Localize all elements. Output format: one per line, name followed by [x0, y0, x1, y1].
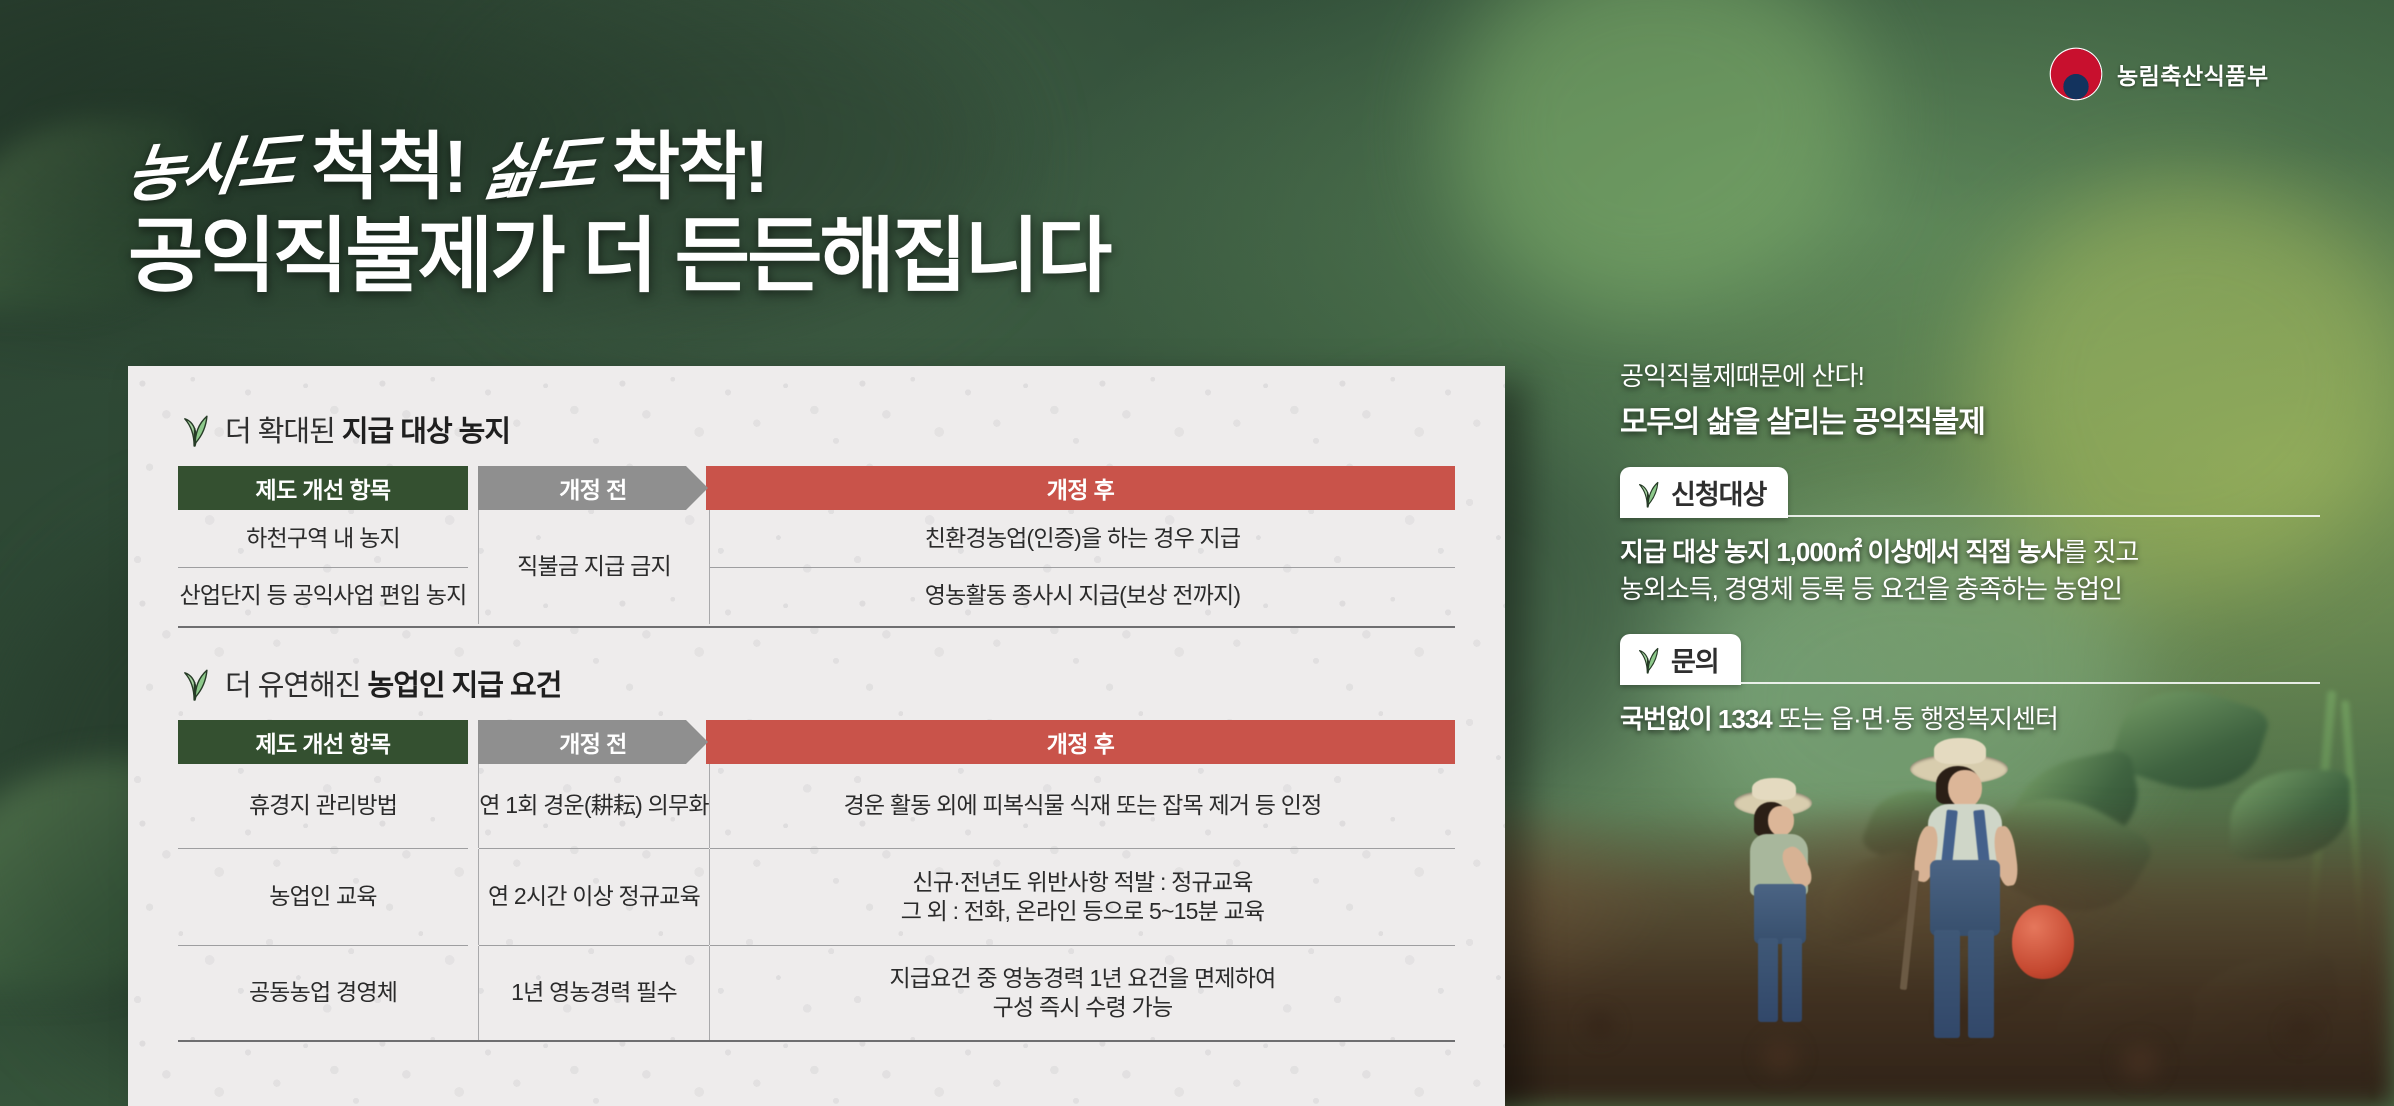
section-2-title: 더 유연해진 농업인 지급 요건: [225, 662, 561, 704]
farmer-figurine-left: [1720, 780, 1870, 1030]
table-2-row-1-before: 연 1회 경운(耕耘) 의무화: [479, 764, 709, 848]
table-2-row-2-after-line-2: 그 외 : 전화, 온라인 등으로 5~15분 교육: [901, 897, 1265, 926]
table-1-header-after: 개정 후: [706, 466, 1455, 510]
apply-target-block: 신청대상 지급 대상 농지 1,000㎡ 이상에서 직접 농사를 짓고 농외소득…: [1620, 467, 2320, 608]
sprout-icon: [178, 665, 212, 701]
table-2-row-1-item: 휴경지 관리방법: [178, 764, 468, 848]
right-info-column: 공익직불제때문에 산다! 모두의 삶을 살리는 공익직불제 신청대상 지급 대상…: [1620, 356, 2320, 738]
badge-rule: [1788, 515, 2320, 517]
headline-bold-1: 척척!: [311, 130, 466, 204]
apply-target-line-1: 지급 대상 농지 1,000㎡ 이상에서 직접 농사를 짓고: [1620, 534, 2320, 571]
table-2-header-after: 개정 후: [706, 720, 1455, 764]
headline-bold-2: 착착!: [612, 130, 767, 204]
inquiry-block: 문의 국번없이 1334 또는 읍·면·동 행정복지센터: [1620, 634, 2320, 738]
table-2: 제도 개선 항목 개정 전 개정 후 휴경지 관리방법 연 1회 경운(耕耘) …: [178, 720, 1455, 1042]
headline-script-2: 삶도: [478, 133, 599, 208]
headline: 농사도 척척! 삶도 착착! 공익직불제가 더 든든해집니다: [128, 108, 1109, 301]
section-2-heading: 더 유연해진 농업인 지급 요건: [178, 662, 1455, 704]
apply-target-line-2: 농외소득, 경영체 등록 등 요건을 충족하는 농업인: [1620, 571, 2320, 608]
headline-line-2: 공익직불제가 더 든든해집니다: [128, 214, 1109, 301]
section-1-title: 더 확대된 지급 대상 농지: [225, 408, 510, 450]
table-1-before-merged: 직불금 지급 금지: [479, 510, 709, 624]
table-2-row-3-item: 공동농업 경영체: [178, 946, 468, 1040]
table-1-row-1-item: 하천구역 내 농지: [178, 510, 468, 567]
table-2-row-2-after: 신규·전년도 위반사항 적발 : 정규교육 그 외 : 전화, 온라인 등으로 …: [710, 849, 1455, 945]
table-1-row-1-after: 친환경농업(인증)을 하는 경우 지급: [710, 510, 1455, 567]
table-2-row-2-after-line-1: 신규·전년도 위반사항 적발 : 정규교육: [912, 868, 1252, 897]
badge-rule: [1741, 682, 2320, 684]
table-2-row-2: 농업인 교육 연 2시간 이상 정규교육 신규·전년도 위반사항 적발 : 정규…: [178, 849, 1455, 945]
table-2-row-3: 공동농업 경영체 1년 영농경력 필수 지급요건 중 영농경력 1년 요건을 면…: [178, 946, 1455, 1040]
table-2-row-3-after-line-1: 지급요건 중 영농경력 1년 요건을 면제하여: [889, 964, 1275, 993]
inquiry-badge: 문의: [1620, 634, 1741, 685]
right-tagline-1: 공익직불제때문에 산다!: [1620, 356, 2320, 393]
section-1-heading: 더 확대된 지급 대상 농지: [178, 408, 1455, 450]
inquiry-label: 문의: [1671, 640, 1719, 679]
apply-target-badge: 신청대상: [1620, 467, 1788, 518]
table-1-header-item: 제도 개선 항목: [178, 466, 468, 510]
table-1-row-2-after: 영농활동 종사시 지급(보상 전까지): [710, 568, 1455, 625]
ministry-name: 농림축산식품부: [2117, 57, 2269, 91]
sprout-icon: [1634, 644, 1662, 674]
sprout-icon: [1634, 478, 1662, 508]
table-2-row-1: 휴경지 관리방법 연 1회 경운(耕耘) 의무화 경운 활동 외에 피복식물 식…: [178, 764, 1455, 848]
right-tagline-2: 모두의 삶을 살리는 공익직불제: [1620, 397, 2320, 441]
table-2-row-2-item: 농업인 교육: [178, 849, 468, 945]
table-2-row-3-after-line-2: 구성 즉시 수령 가능: [993, 993, 1173, 1022]
infographic-poster: 농림축산식품부 농사도 척척! 삶도 착착! 공익직불제가 더 든든해집니다 더…: [0, 0, 2394, 1106]
table-2-header-item: 제도 개선 항목: [178, 720, 468, 764]
table-2-row-3-before: 1년 영농경력 필수: [479, 946, 709, 1040]
table-1-header-before: 개정 전: [478, 466, 708, 510]
taeguk-icon: [2048, 46, 2104, 102]
table-1: 제도 개선 항목 개정 전 개정 후 하천구역 내 농지 산업단지 등 공익사업…: [178, 466, 1455, 628]
tomato-prop: [2012, 905, 2074, 979]
farmer-figurine-right: [1900, 740, 2090, 1040]
table-2-header-before: 개정 전: [478, 720, 708, 764]
table-2-row-3-after: 지급요건 중 영농경력 1년 요건을 면제하여 구성 즉시 수령 가능: [710, 946, 1455, 1040]
table-1-row-2-item: 산업단지 등 공익사업 편입 농지: [178, 568, 468, 625]
table-2-header-row: 제도 개선 항목 개정 전 개정 후: [178, 720, 1455, 764]
table-2-row-1-after: 경운 활동 외에 피복식물 식재 또는 잡목 제거 등 인정: [710, 764, 1455, 848]
ministry-logo: 농림축산식품부: [2048, 46, 2269, 102]
table-1-header-row: 제도 개선 항목 개정 전 개정 후: [178, 466, 1455, 510]
inquiry-line-1: 국번없이 1334 또는 읍·면·동 행정복지센터: [1620, 701, 2320, 738]
table-2-row-2-before: 연 2시간 이상 정규교육: [479, 849, 709, 945]
table-1-body: 하천구역 내 농지 산업단지 등 공익사업 편입 농지 직불금 지급 금지 친환…: [178, 510, 1455, 624]
sprout-icon: [178, 411, 212, 447]
content-panel: 더 확대된 지급 대상 농지 제도 개선 항목 개정 전 개정 후 하천구역 내…: [128, 366, 1505, 1106]
headline-script-1: 농사도: [122, 131, 299, 211]
apply-target-label: 신청대상: [1671, 473, 1766, 512]
